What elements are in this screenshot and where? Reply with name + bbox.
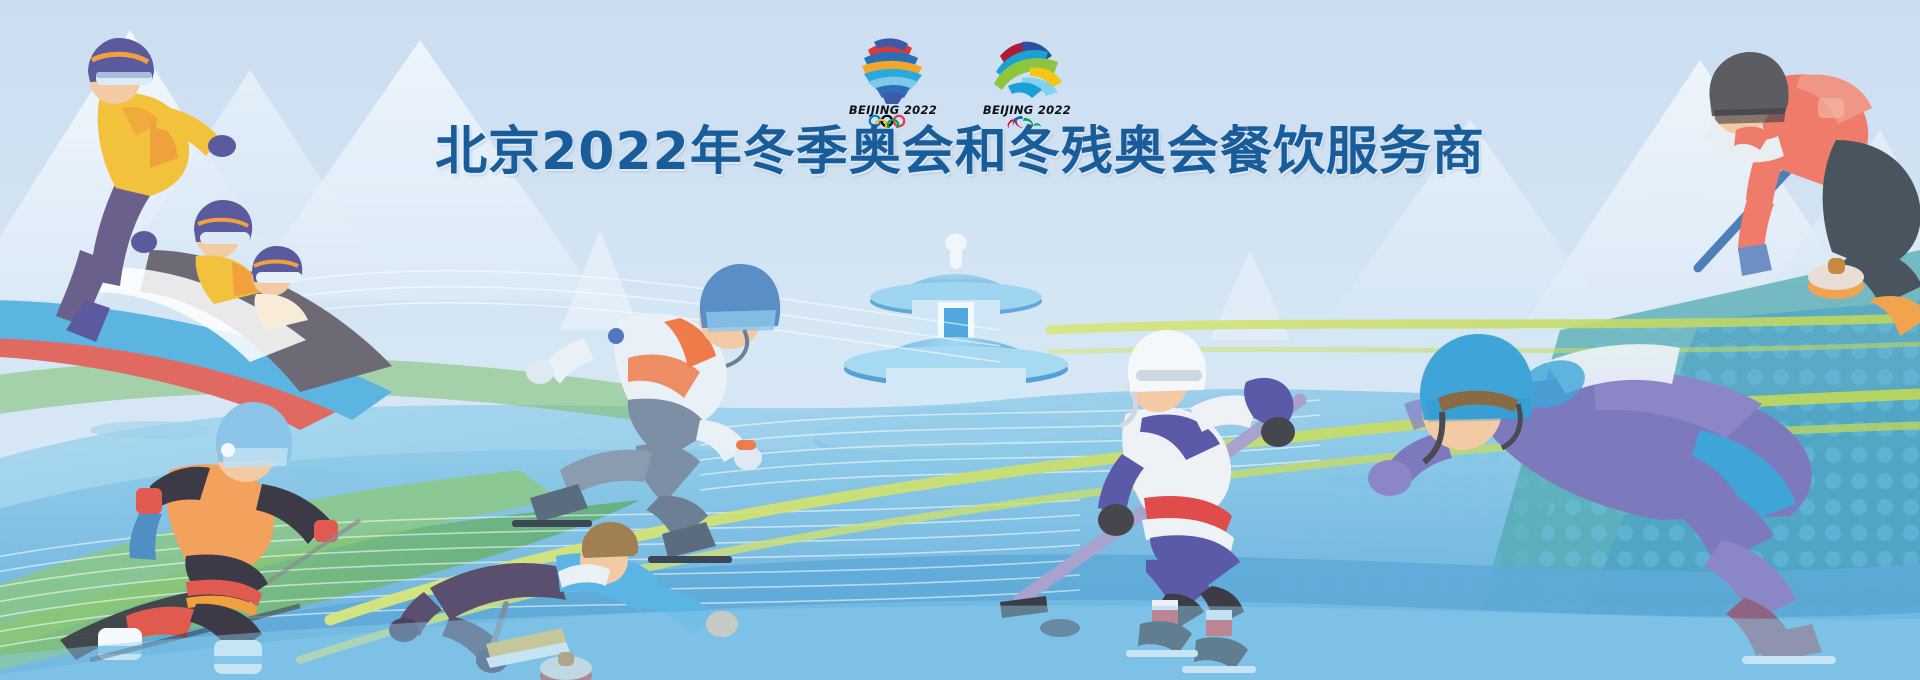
headline-text: 北京2022年冬季奥会和冬残奥会餐饮服务商 xyxy=(435,120,1485,184)
beijing-2022-paralympic-logo[interactable]: BEIJING 2022 xyxy=(972,28,1082,128)
beijing-2022-banner: BEIJING 2022 xyxy=(0,0,1920,680)
olympic-wordmark: BEIJING 2022 xyxy=(849,103,937,117)
beijing-2022-olympic-logo[interactable]: BEIJING 2022 xyxy=(838,28,948,128)
olympic-emblem-icon xyxy=(862,38,922,104)
paralympic-wordmark: BEIJING 2022 xyxy=(983,103,1071,117)
paralympic-emblem-icon xyxy=(994,42,1062,98)
logo-group: BEIJING 2022 xyxy=(0,28,1920,128)
page-title: 北京2022年冬季奥会和冬残奥会餐饮服务商 xyxy=(0,120,1920,184)
